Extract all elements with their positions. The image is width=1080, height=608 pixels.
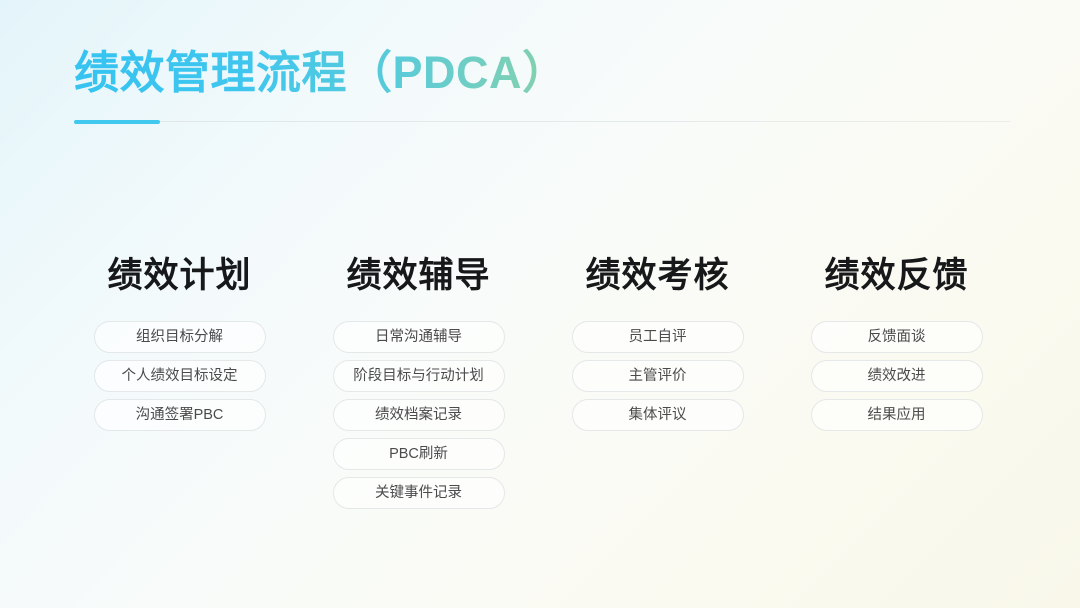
title-underline	[74, 120, 1014, 124]
process-column-feedback: 绩效反馈 反馈面谈 绩效改进 结果应用	[777, 258, 1016, 431]
pill-list-plan: 组织目标分解 个人绩效目标设定 沟通签署PBC	[94, 321, 266, 431]
process-column-coaching: 绩效辅导 日常沟通辅导 阶段目标与行动计划 绩效档案记录 PBC刷新 关键事件记…	[299, 258, 538, 509]
pill-item[interactable]: 结果应用	[811, 399, 983, 431]
process-column-appraisal: 绩效考核 员工自评 主管评价 集体评议	[538, 258, 777, 431]
pill-item[interactable]: 员工自评	[572, 321, 744, 353]
pill-list-feedback: 反馈面谈 绩效改进 结果应用	[811, 321, 983, 431]
column-heading-plan: 绩效计划	[107, 258, 251, 293]
title-underline-thin-line	[74, 121, 1010, 122]
pill-item[interactable]: 反馈面谈	[811, 321, 983, 353]
column-heading-coaching: 绩效辅导	[346, 258, 490, 293]
process-column-plan: 绩效计划 组织目标分解 个人绩效目标设定 沟通签署PBC	[60, 258, 299, 431]
pill-list-coaching: 日常沟通辅导 阶段目标与行动计划 绩效档案记录 PBC刷新 关键事件记录	[333, 321, 505, 509]
title-underline-accent-bar	[74, 120, 160, 124]
pill-item[interactable]: 集体评议	[572, 399, 744, 431]
pill-item[interactable]: 个人绩效目标设定	[94, 360, 266, 392]
page-title: 绩效管理流程（PDCA）	[74, 46, 1014, 101]
pill-item[interactable]: 主管评价	[572, 360, 744, 392]
column-heading-feedback: 绩效反馈	[824, 258, 968, 293]
pill-item[interactable]: 沟通签署PBC	[94, 399, 266, 431]
pill-item[interactable]: 阶段目标与行动计划	[333, 360, 505, 392]
pill-item[interactable]: 组织目标分解	[94, 321, 266, 353]
process-columns: 绩效计划 组织目标分解 个人绩效目标设定 沟通签署PBC 绩效辅导 日常沟通辅导…	[60, 258, 1020, 509]
slide-canvas: 绩效管理流程（PDCA） 绩效计划 组织目标分解 个人绩效目标设定 沟通签署PB…	[0, 0, 1080, 608]
pill-item[interactable]: 关键事件记录	[333, 477, 505, 509]
pill-list-appraisal: 员工自评 主管评价 集体评议	[572, 321, 744, 431]
title-block: 绩效管理流程（PDCA）	[74, 46, 1014, 101]
column-heading-appraisal: 绩效考核	[585, 258, 729, 293]
pill-item[interactable]: 绩效改进	[811, 360, 983, 392]
pill-item[interactable]: 绩效档案记录	[333, 399, 505, 431]
pill-item[interactable]: 日常沟通辅导	[333, 321, 505, 353]
pill-item[interactable]: PBC刷新	[333, 438, 505, 470]
